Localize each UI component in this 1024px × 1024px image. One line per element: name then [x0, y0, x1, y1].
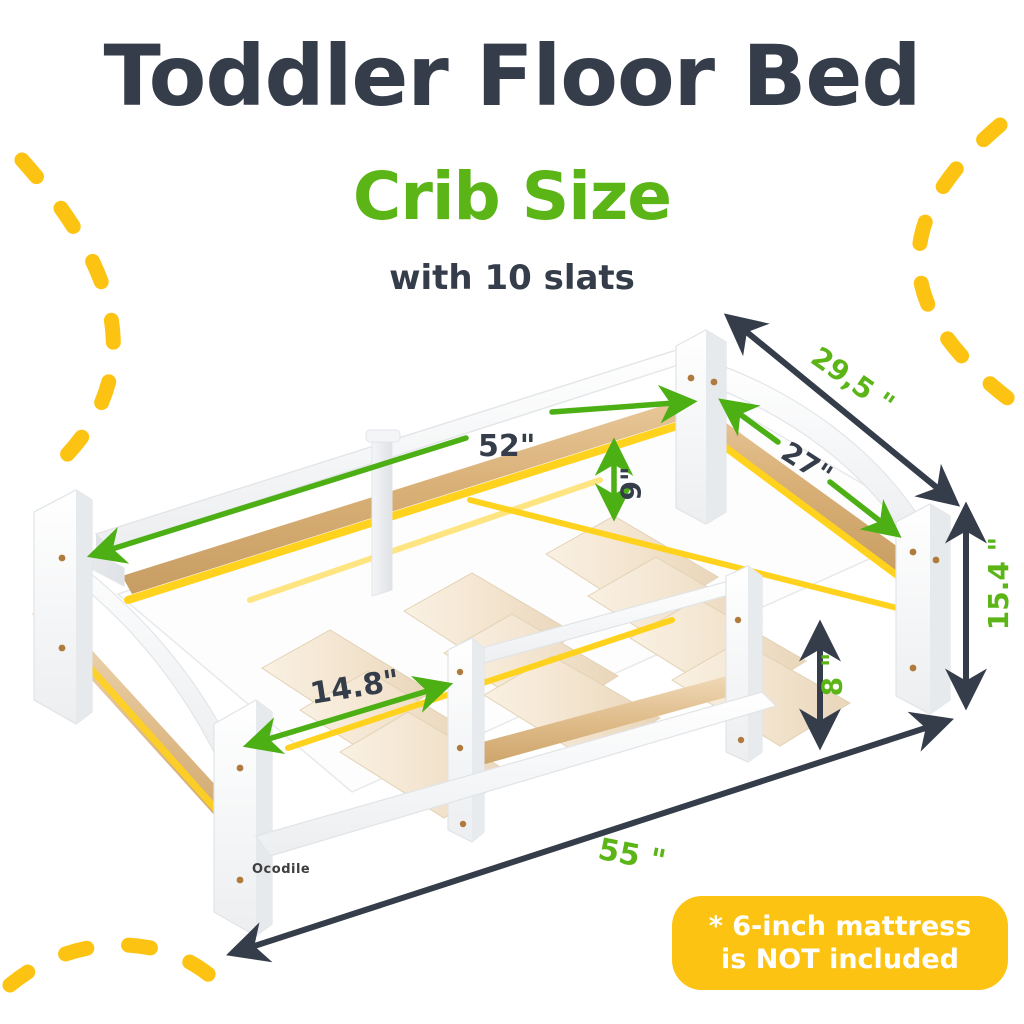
page-subtitle: Crib Size — [0, 160, 1024, 234]
infographic-canvas: Toddler Floor Bed Crib Size with 10 slat… — [0, 0, 1024, 1024]
arrow-29-5 — [732, 320, 952, 500]
arrow-52 — [96, 402, 688, 554]
dimension-label-rail-height: 9" — [615, 466, 648, 500]
badge-line-2: is NOT included — [721, 943, 959, 976]
dimension-arrows-layer — [0, 0, 1024, 1024]
dimension-label-deck-height: 8 " — [815, 653, 848, 697]
dimension-label-length-inner: 52" — [478, 429, 535, 464]
page-title: Toddler Floor Bed — [0, 30, 1024, 122]
dimension-label-total-height: 15.4 " — [982, 537, 1015, 630]
brand-logo: Ocodile — [252, 862, 310, 877]
badge-line-1: * 6-inch mattress — [709, 910, 972, 943]
mattress-disclaimer-badge: * 6-inch mattress is NOT included — [672, 896, 1008, 990]
slats-note: with 10 slats — [0, 258, 1024, 298]
